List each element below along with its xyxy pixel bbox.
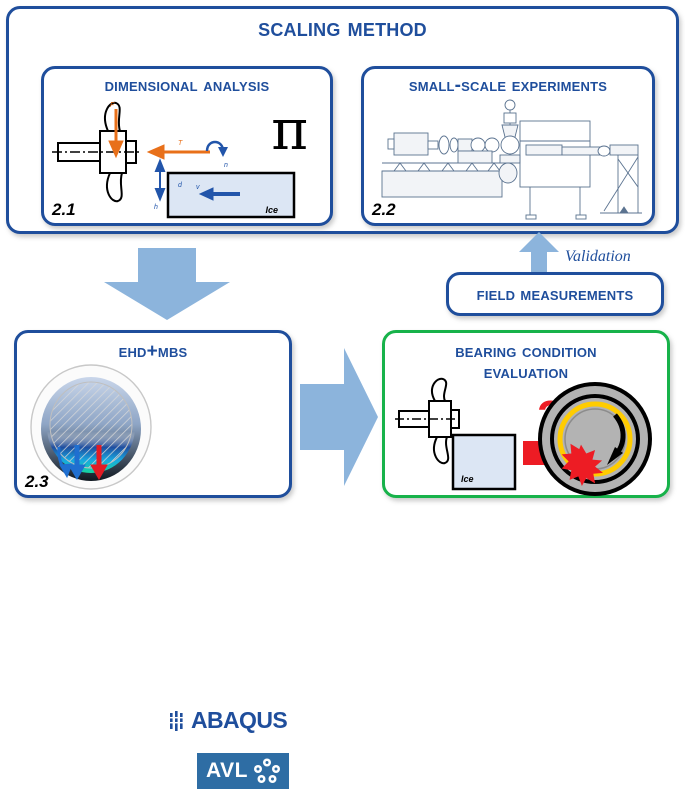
abaqus-mark-icon xyxy=(169,711,187,731)
section-number-21: 2.1 xyxy=(52,200,76,220)
svg-text:h: h xyxy=(154,204,158,211)
avl-flower-icon xyxy=(254,758,280,784)
svg-text:v: v xyxy=(196,184,200,191)
svg-text:T: T xyxy=(178,140,183,147)
down-arrow-icon xyxy=(100,248,234,322)
panel-ehd-mbs-heading: Ehd+Mbs xyxy=(17,341,289,362)
test-rig-drawing xyxy=(380,97,642,223)
panel-bearing-condition-evaluation[interactable]: Bearing condition Evaluation Ice ? xyxy=(382,330,670,498)
avl-wordmark: AVL xyxy=(206,759,248,783)
section-number-22: 2.2 xyxy=(372,200,396,220)
panel-field-measurements[interactable]: Field measurements xyxy=(446,272,664,316)
ice-label-21: Ice xyxy=(265,205,278,215)
section-number-23: 2.3 xyxy=(25,472,49,492)
panel-dimensional-analysis-heading: Dimensional analysis xyxy=(48,75,326,96)
panel-bearing-condition-evaluation-heading: Bearing condition Evaluation xyxy=(385,341,667,384)
panel-small-scale-experiments[interactable]: Small-Scale experiments xyxy=(361,66,655,226)
abaqus-wordmark: ABAQUS xyxy=(191,707,287,734)
bce-heading-line-1: Bearing condition xyxy=(385,341,667,362)
validation-label: Validation xyxy=(565,248,631,266)
right-arrow-icon xyxy=(300,344,380,490)
damaged-bearing-icon xyxy=(537,381,653,497)
page-title: Scaling method xyxy=(9,14,676,42)
propeller-ice-icon: Ice xyxy=(395,385,527,495)
avl-logo: AVL xyxy=(197,753,289,789)
pi-symbol: π xyxy=(271,103,308,159)
svg-text:n: n xyxy=(224,162,228,169)
abaqus-logo: ABAQUS xyxy=(169,707,287,734)
panel-ehd-mbs[interactable]: Ehd+Mbs xyxy=(14,330,292,498)
ice-label-bce: Ice xyxy=(461,474,474,484)
panel-field-measurements-heading: Field measurements xyxy=(449,284,661,304)
panel-dimensional-analysis[interactable]: Dimensional analysis Ice v d xyxy=(41,66,333,226)
scaling-method-container: Scaling method Dimensional analysis Ice … xyxy=(6,6,679,234)
panel-small-scale-experiments-heading: Small-Scale experiments xyxy=(368,75,648,96)
svg-text:F: F xyxy=(110,102,115,109)
